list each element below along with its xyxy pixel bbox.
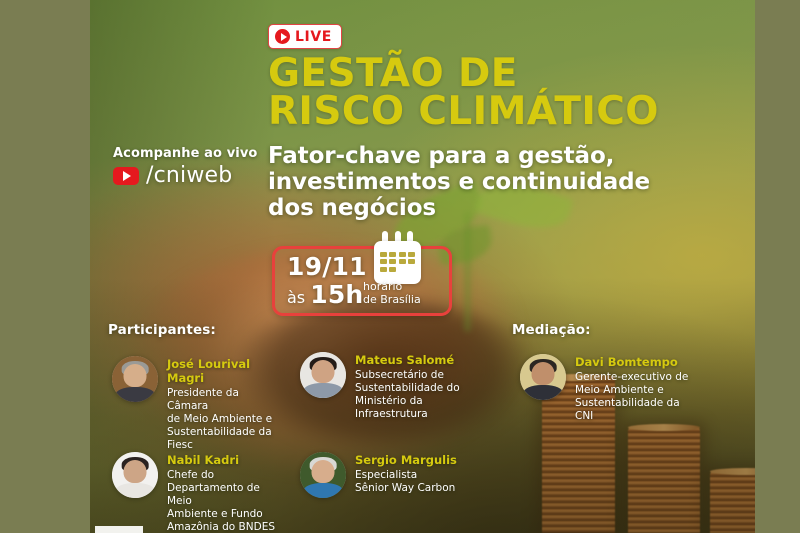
avatar (300, 452, 346, 498)
participant-card-sergio-margulis: Sergio Margulis EspecialistaSênior Way C… (300, 452, 473, 498)
participant-name: Sergio Margulis (355, 454, 473, 468)
participant-name: Mateus Salomé (355, 354, 463, 368)
play-circle-icon (275, 29, 290, 44)
mediation-heading: Mediação: (512, 322, 591, 338)
avatar (112, 452, 158, 498)
event-date-badge: 19/11 às 15h horário de Brasília (272, 246, 452, 316)
event-time: às 15h (287, 281, 367, 309)
avatar (112, 356, 158, 402)
follow-label: Acompanhe ao vivo (113, 146, 257, 161)
page-title: GESTÃO DE RISCO CLIMÁTICO (268, 55, 688, 131)
date-time-text: 19/11 às 15h (275, 254, 367, 308)
time-value: 15h (310, 280, 363, 309)
mediator-name: Davi Bomtempo (575, 356, 691, 370)
subtitle-line-2: investimentos e continuidade (268, 169, 688, 195)
timezone-line-2: de Brasília (363, 293, 421, 306)
participant-role: Chefe doDepartamento de MeioAmbiente e F… (167, 469, 285, 533)
youtube-icon (113, 167, 139, 185)
participant-card-jose-lourival-magri: José Lourival Magri Presidente da Câmara… (112, 356, 275, 452)
youtube-handle: /cniweb (146, 165, 232, 187)
participant-role: Presidente da Câmarade Meio Ambiente eSu… (167, 387, 275, 452)
subtitle-line-3: dos negócios (268, 195, 688, 221)
live-label: LIVE (295, 30, 332, 44)
timezone-line-1: horário (363, 280, 421, 293)
live-badge: LIVE (268, 24, 342, 49)
participant-card-nabil-kadri: Nabil Kadri Chefe doDepartamento de Meio… (112, 452, 285, 533)
participant-name: José Lourival Magri (167, 358, 275, 386)
mediator-role: Gerente-executivo deMeio Ambiente eSuste… (575, 371, 691, 423)
participant-card-mateus-salome: Mateus Salomé Subsecretário deSustentabi… (300, 352, 463, 421)
participants-heading: Participantes: (108, 322, 216, 338)
event-date: 19/11 (287, 254, 367, 280)
timezone-note: horário de Brasília (363, 280, 421, 306)
participant-name: Nabil Kadri (167, 454, 285, 468)
calendar-icon (374, 232, 421, 284)
youtube-channel-link[interactable]: /cniweb (113, 165, 232, 187)
participant-role: Subsecretário deSustentabilidade doMinis… (355, 369, 463, 421)
avatar (300, 352, 346, 398)
title-line-2: RISCO CLIMÁTICO (268, 93, 688, 131)
avatar (520, 354, 566, 400)
subtitle-line-1: Fator-chave para a gestão, (268, 143, 688, 169)
page-subtitle: Fator-chave para a gestão, investimentos… (268, 143, 688, 222)
event-promo-graphic: LIVE GESTÃO DE RISCO CLIMÁTICO Fator-cha… (0, 0, 800, 533)
participant-role: EspecialistaSênior Way Carbon (355, 469, 473, 495)
time-prefix: às (287, 288, 305, 307)
mediator-card-davi-bomtempo: Davi Bomtempo Gerente-executivo deMeio A… (520, 354, 691, 423)
